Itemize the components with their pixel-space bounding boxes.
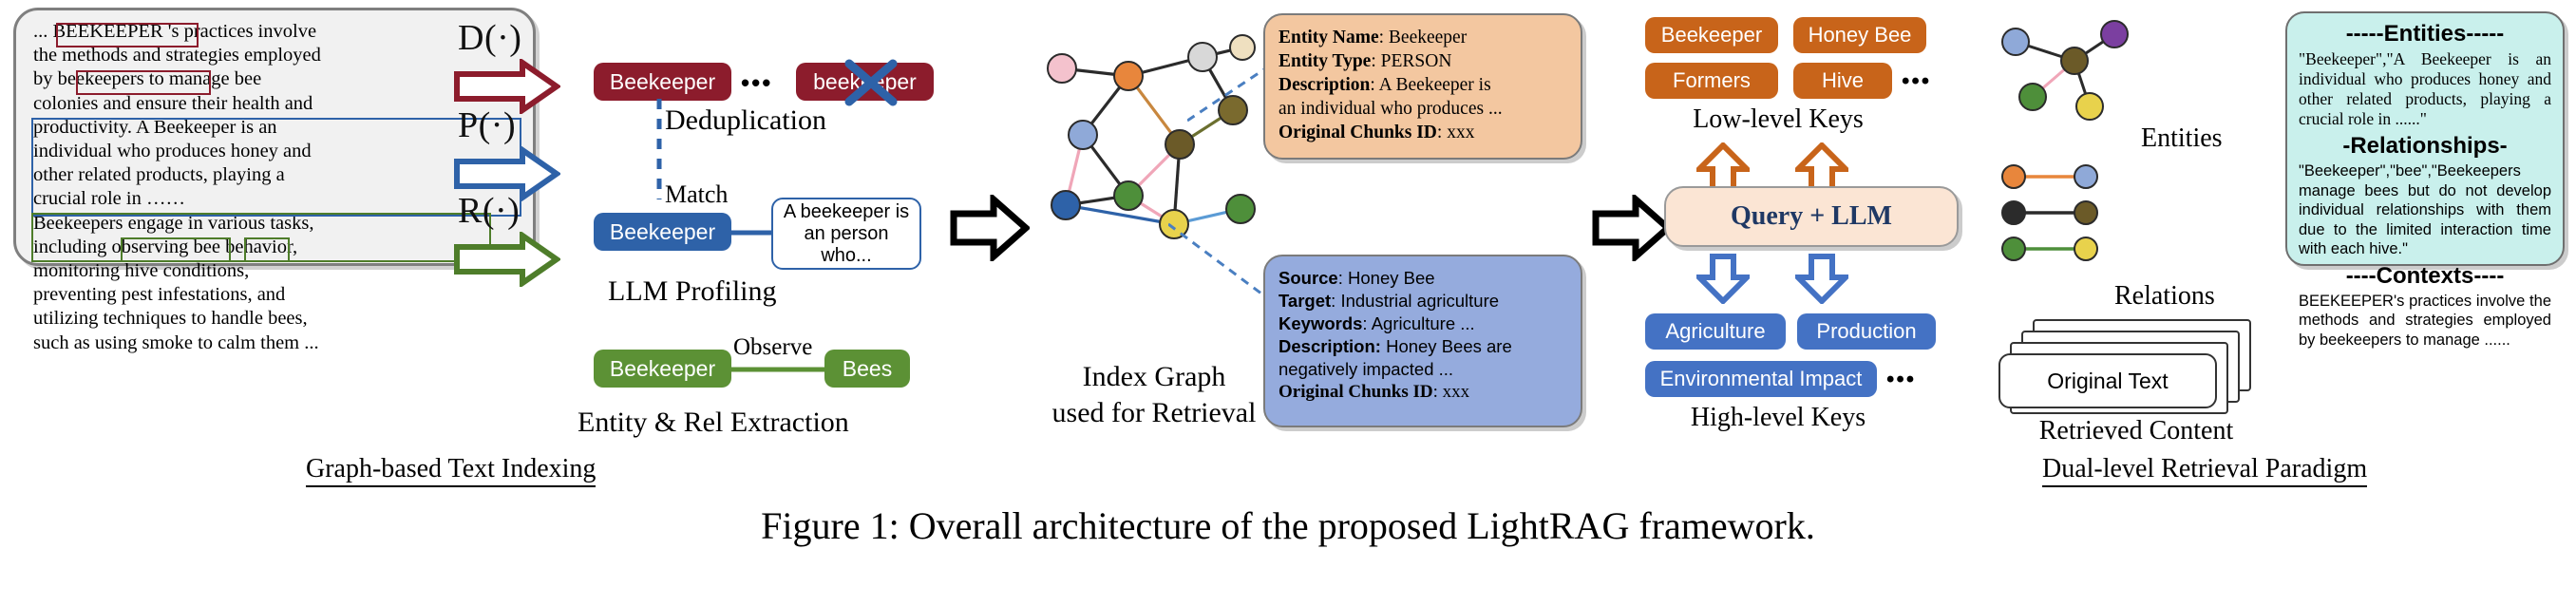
arrow-to-retrieval xyxy=(1592,195,1672,261)
doc-line: colonies and ensure their health and xyxy=(33,92,521,116)
profiling-connector xyxy=(729,229,773,237)
entity-card-value: PERSON xyxy=(1381,51,1452,71)
original-text-label: Original Text xyxy=(2047,369,2168,394)
relation-card-row: Source: Honey Bee xyxy=(1279,267,1567,290)
query-llm-label: Query + LLM xyxy=(1731,201,1892,232)
result-contexts-header: ----Contexts---- xyxy=(2299,263,2551,290)
relation-card-row: Target: Industrial agriculture xyxy=(1279,290,1567,312)
entity-card-value: xxx xyxy=(1447,123,1474,142)
highlight-entity-beekeeper-1 xyxy=(56,23,199,47)
dedup-match-label: Match xyxy=(665,180,728,209)
entity-detail-card: Entity Name: Beekeeper Entity Type: PERS… xyxy=(1263,13,1582,160)
high-level-key-production[interactable]: Production xyxy=(1797,313,1936,350)
entity-card-key: Entity Name xyxy=(1279,28,1379,47)
dedup-ellipsis: ••• xyxy=(741,68,772,98)
dedup-node-beekeeper-a[interactable]: Beekeeper xyxy=(594,63,731,101)
entity-card-key: Original Chunks ID xyxy=(1279,123,1437,142)
entity-card-row: an individual who produces ... xyxy=(1279,97,1567,121)
low-level-key-honey-bee[interactable]: Honey Bee xyxy=(1793,17,1926,53)
highlight-entity-beekeepers-2 xyxy=(76,70,211,95)
doc-line: such as using smoke to calm them ... xyxy=(33,331,521,355)
doc-line: utilizing techniques to handle bees, xyxy=(33,307,521,331)
retrieved-relations-label: Relations xyxy=(2114,281,2215,312)
highlight-relation-bee xyxy=(244,237,290,262)
operator-label-dedup: D(·) xyxy=(458,17,521,59)
relation-card-value: Honey Bees are xyxy=(1386,336,1512,356)
relation-card-key: Target xyxy=(1279,291,1331,311)
retrieved-entities-graphlet xyxy=(1991,15,2143,125)
extraction-node-target[interactable]: Bees xyxy=(824,350,910,388)
relation-card-value: xxx xyxy=(1443,382,1470,402)
low-level-key-beekeeper[interactable]: Beekeeper xyxy=(1645,17,1778,53)
result-entities-header: -----Entities----- xyxy=(2299,21,2551,47)
entity-card-value: A Beekeeper is xyxy=(1379,75,1491,95)
relation-card-key: Description: xyxy=(1279,336,1381,356)
relation-card-key: Keywords xyxy=(1279,313,1362,333)
extraction-edge xyxy=(728,366,828,373)
low-level-key-hive[interactable]: Hive xyxy=(1793,63,1892,99)
entity-card-key: Entity Type xyxy=(1279,51,1371,71)
result-entities-body: "Beekeeper","A Beekeeper is an individua… xyxy=(2299,49,2551,129)
extraction-node-source[interactable]: Beekeeper xyxy=(594,350,731,388)
graph-label-line1: Index Graph xyxy=(1026,361,1282,393)
retrieved-relations-list xyxy=(1993,161,2162,266)
entity-card-row: Original Chunks ID: xxx xyxy=(1279,121,1567,144)
low-level-keys-ellipsis: ••• xyxy=(1902,68,1931,95)
high-level-down-arrow-right xyxy=(1795,253,1848,304)
operator-label-profile: P(·) xyxy=(458,104,516,146)
entity-card-value: Beekeeper xyxy=(1389,28,1467,47)
low-level-key-formers[interactable]: Formers xyxy=(1645,63,1778,99)
dedup-match-dashed-line xyxy=(655,99,663,199)
result-contexts-body: BEEKEEPER's practices involve the method… xyxy=(2299,292,2551,350)
profiling-label: LLM Profiling xyxy=(608,275,777,308)
graph-label-line2: used for Retrieval xyxy=(1026,397,1282,429)
query-llm-box[interactable]: Query + LLM xyxy=(1664,186,1959,247)
extraction-relation-label: Observe xyxy=(733,334,812,361)
profiling-text-box: A beekeeper is an person who... xyxy=(771,198,921,270)
arrow-extract xyxy=(454,232,560,287)
section-title-indexing: Graph-based Text Indexing xyxy=(306,454,596,487)
section-title-retrieval: Dual-level Retrieval Paradigm xyxy=(2042,454,2367,487)
profiling-node-beekeeper[interactable]: Beekeeper xyxy=(594,213,731,251)
relation-card-value: Industrial agriculture xyxy=(1340,291,1499,311)
highlight-profile-region xyxy=(31,118,521,217)
entity-card-row: Entity Type: PERSON xyxy=(1279,49,1567,73)
high-level-down-arrow-left xyxy=(1696,253,1750,304)
high-level-keys-ellipsis: ••• xyxy=(1886,367,1916,393)
retrieved-entities-label: Entities xyxy=(2141,123,2223,154)
retrieved-content-label: Retrieved Content xyxy=(1989,416,2283,446)
operator-label-extract: R(·) xyxy=(458,190,520,232)
relation-card-row: Description: Honey Bees are xyxy=(1279,335,1567,358)
relation-detail-card: Source: Honey Bee Target: Industrial agr… xyxy=(1263,255,1582,427)
relation-card-row: Original Chunks ID: xxx xyxy=(1279,381,1567,404)
figure-caption: Figure 1: Overall architecture of the pr… xyxy=(0,503,2576,548)
high-level-keys-label: High-level Keys xyxy=(1645,403,1911,433)
relation-card-value: Agriculture ... xyxy=(1372,313,1475,333)
high-level-key-agriculture[interactable]: Agriculture xyxy=(1645,313,1786,350)
extraction-label: Entity & Rel Extraction xyxy=(578,407,849,439)
doc-line: monitoring hive conditions, xyxy=(33,259,521,283)
dedup-label: Deduplication xyxy=(665,104,826,137)
high-level-key-environmental-impact[interactable]: Environmental Impact xyxy=(1645,361,1877,397)
entity-card-row: Description: A Beekeeper is xyxy=(1279,73,1567,97)
relation-card-row: Keywords: Agriculture ... xyxy=(1279,312,1567,335)
figure-root: ... BEEKEEPER 's practices involve the m… xyxy=(0,0,2576,606)
duplicate-removed-x-icon xyxy=(842,57,900,108)
relation-card-value: Honey Bee xyxy=(1348,268,1435,288)
low-level-keys-label: Low-level Keys xyxy=(1645,104,1911,135)
relation-card-key: Original Chunks ID xyxy=(1279,382,1433,402)
original-text-card[interactable]: Original Text xyxy=(1998,353,2217,408)
highlight-relation-observing xyxy=(121,237,231,262)
result-relationships-body: "Beekeeper","bee","Beekeepers manage bee… xyxy=(2299,161,2551,259)
relation-card-key: Source xyxy=(1279,268,1338,288)
doc-line: preventing pest infestations, and xyxy=(33,283,521,307)
retrieval-result-card: -----Entities----- "Beekeeper","A Beekee… xyxy=(2285,11,2565,266)
entity-card-row: Entity Name: Beekeeper xyxy=(1279,26,1567,49)
relation-card-row: negatively impacted ... xyxy=(1279,358,1567,381)
result-relationships-header: -Relationships- xyxy=(2299,133,2551,160)
entity-card-key: Description xyxy=(1279,75,1370,95)
